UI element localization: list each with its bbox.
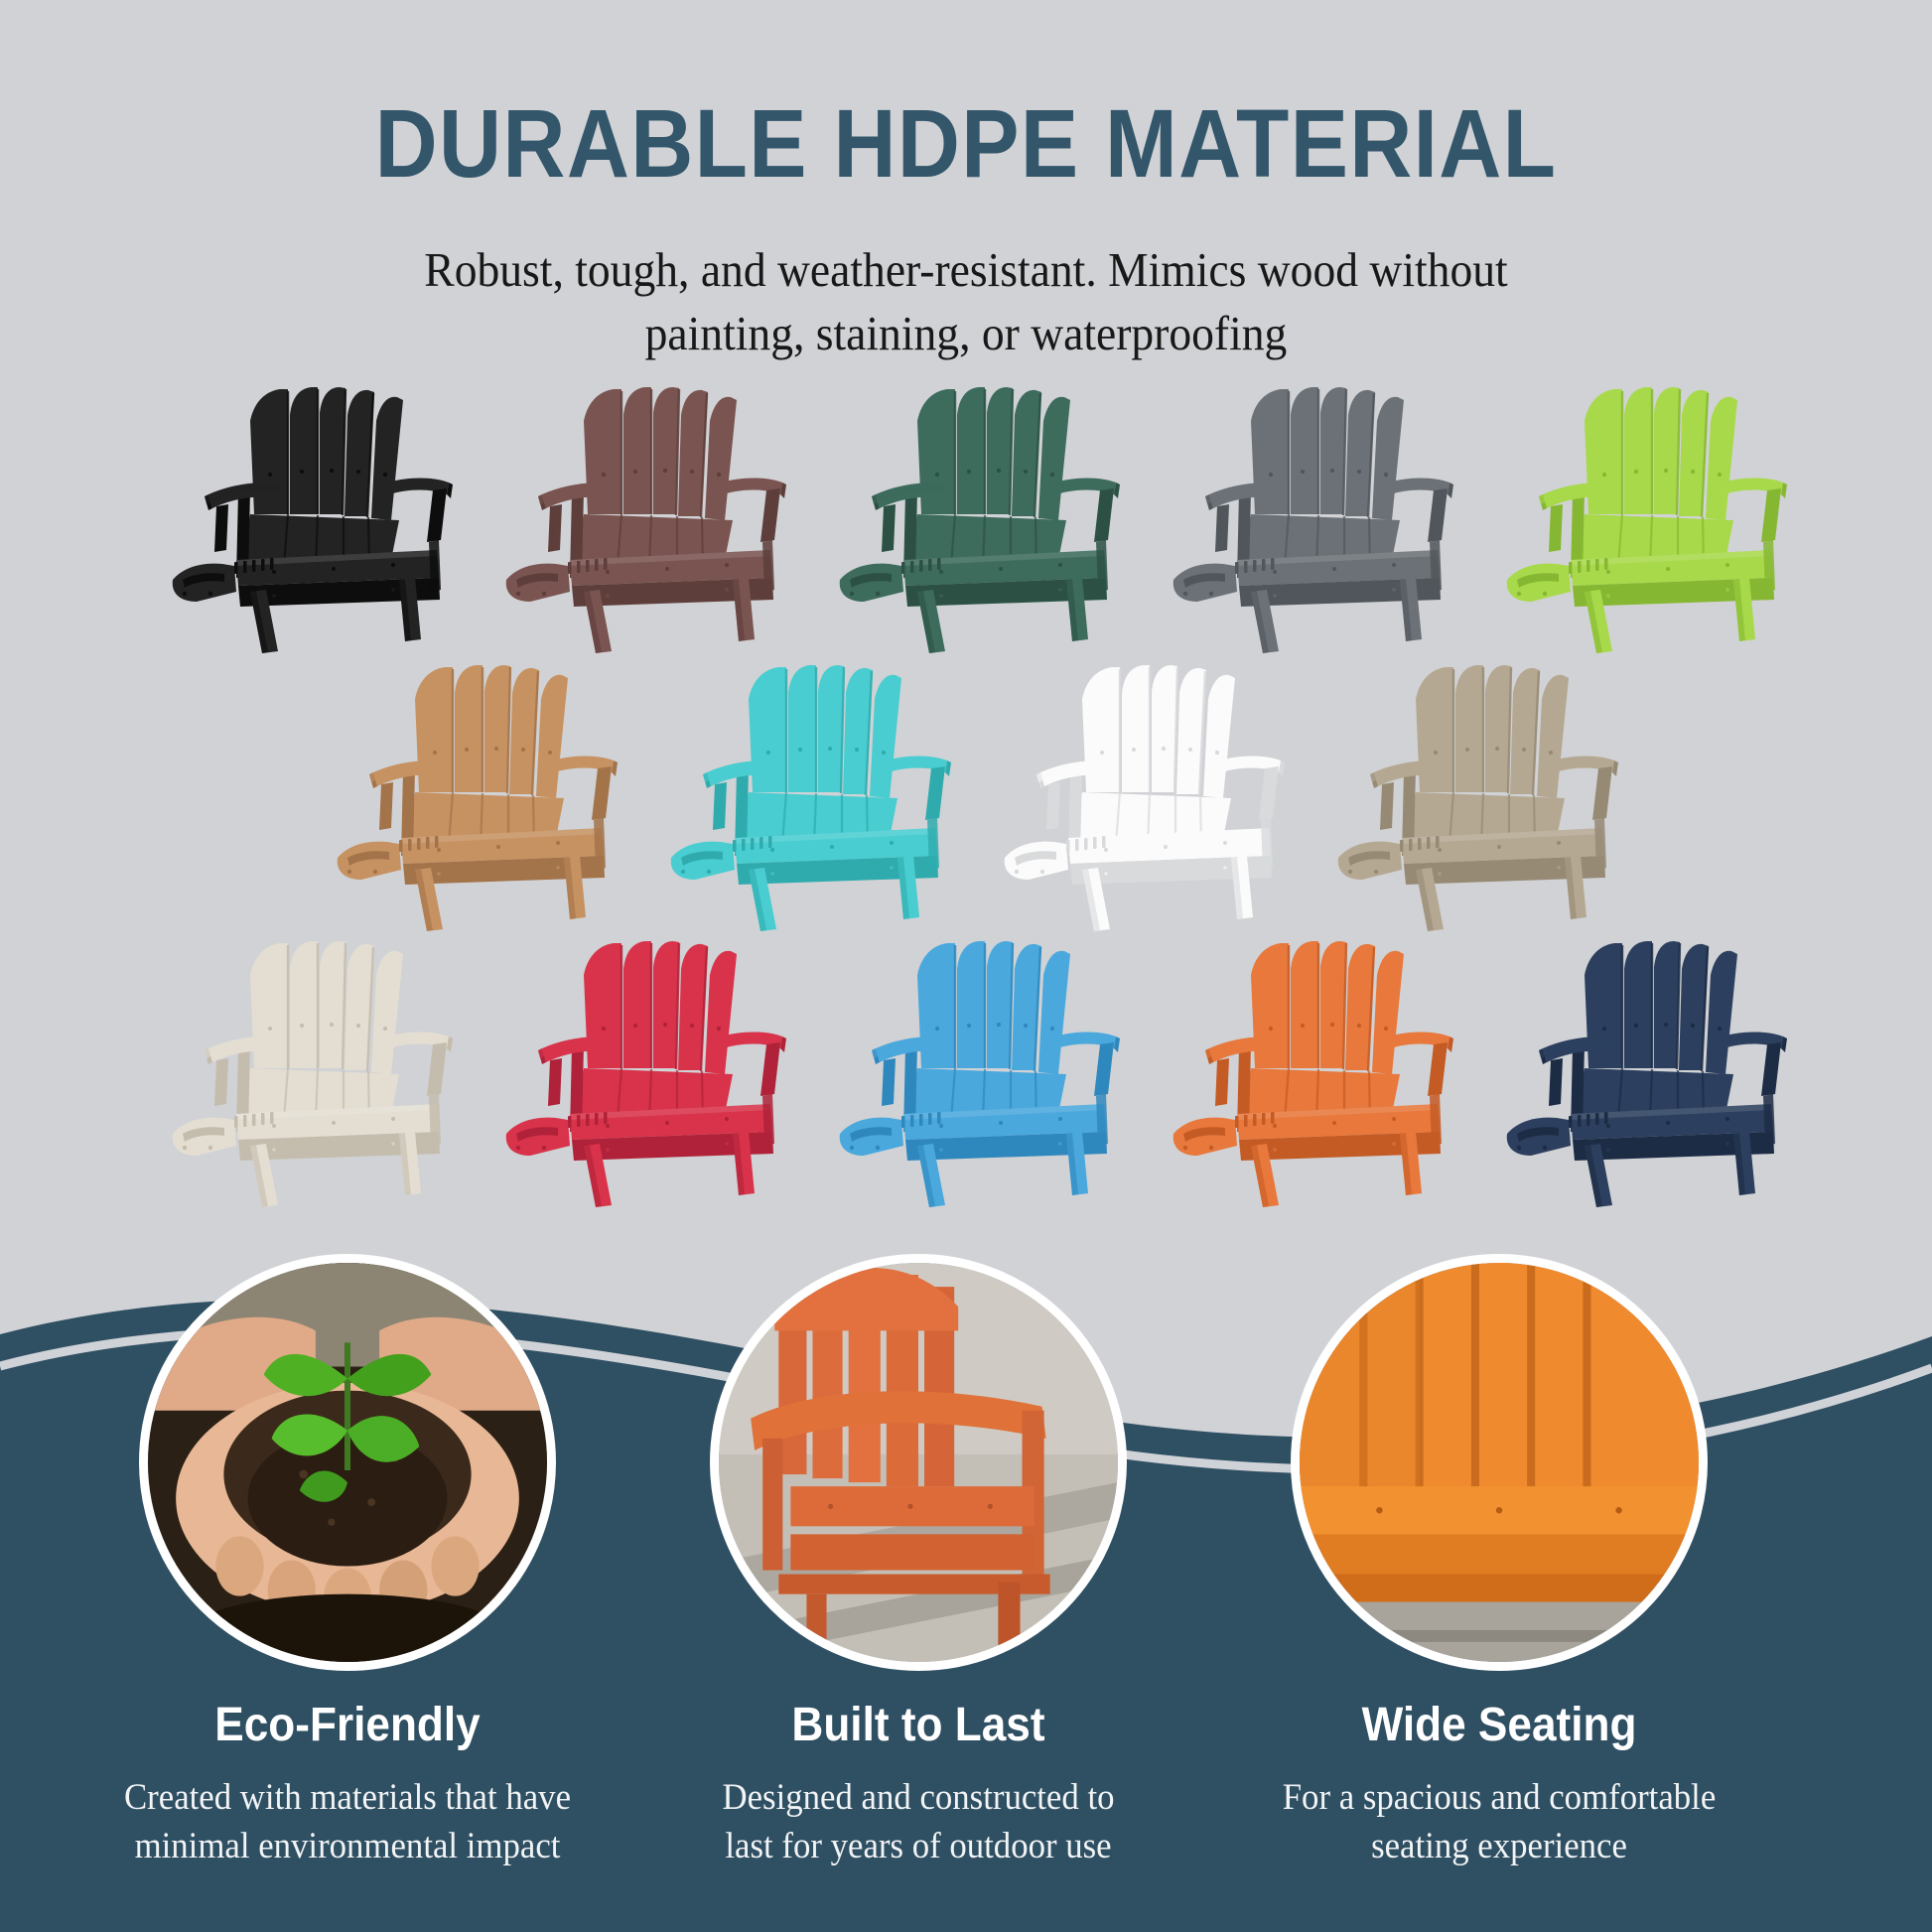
feature-title: Built to Last [662,1701,1173,1750]
feature-image-eco-friendly [139,1254,556,1671]
chair-swatch-red[interactable] [473,919,800,1207]
chair-swatch-navy-blue[interactable] [1473,919,1801,1207]
feature-desc: Designed and constructed to last for yea… [657,1773,1179,1870]
chair-swatch-orange[interactable] [1140,919,1467,1207]
chair-row-1 [8,365,1932,653]
chair-swatch-lime-green[interactable] [1473,365,1801,653]
feature-desc: Created with materials that have minimal… [86,1773,609,1870]
feature-title: Wide Seating [1243,1701,1754,1750]
infographic-canvas: DURABLE HDPE MATERIAL Robust, tough, and… [0,0,1932,1932]
seat-front-rail [1300,1535,1699,1579]
chair-swatch-sky-blue[interactable] [806,919,1134,1207]
chair-swatch-brown[interactable] [473,365,800,653]
chair-swatch-ivory[interactable] [139,919,467,1207]
feature-wide-seating: Wide Seating For a spacious and comforta… [1221,1254,1777,1870]
seat-rail-2 [790,1535,1034,1571]
feature-built-to-last: Built to Last Designed and constructed t… [640,1254,1196,1870]
feature-list: Eco-Friendly Created with materials that… [0,1217,1932,1932]
chair-swatch-white[interactable] [971,643,1299,931]
page-title: DURABLE HDPE MATERIAL [96,95,1835,192]
feature-eco-friendly: Eco-Friendly Created with materials that… [69,1254,625,1870]
seat-lower-rail [1300,1575,1699,1602]
header: DURABLE HDPE MATERIAL Robust, tough, and… [0,0,1932,364]
front-leg-left [762,1439,782,1571]
chair-swatch-black[interactable] [139,365,467,653]
feature-image-wide-seating [1291,1254,1708,1671]
chair-color-grid [0,365,1932,1207]
chair-swatch-khaki[interactable] [1305,643,1632,931]
chair-swatch-turquoise[interactable] [637,643,965,931]
chair-row-3 [8,919,1932,1207]
page-subtitle: Robust, tough, and weather-resistant. Mi… [68,238,1864,364]
feature-title: Eco-Friendly [91,1701,603,1750]
chair-swatch-dark-green[interactable] [806,365,1134,653]
feature-desc: For a spacious and comfortable seating e… [1238,1773,1760,1870]
chair-swatch-cedar-tan[interactable] [304,643,631,931]
chair-row-2 [4,643,1932,931]
feature-image-built-to-last [710,1254,1127,1671]
chair-swatch-gray[interactable] [1140,365,1467,653]
